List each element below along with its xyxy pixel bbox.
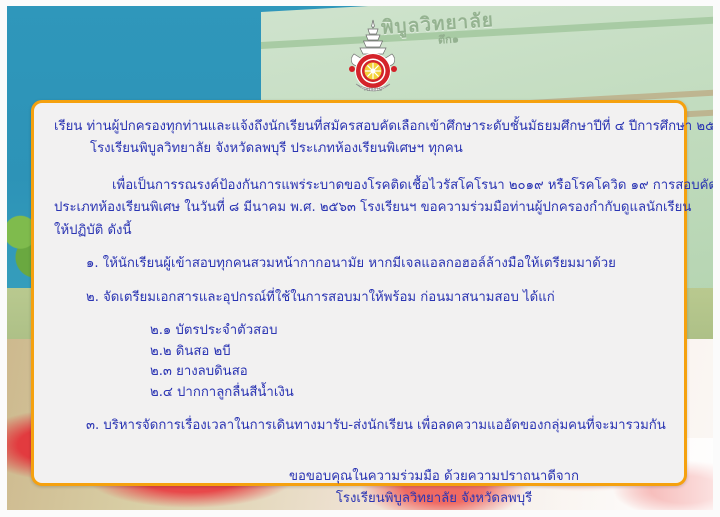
salutation-line-1: เรียน ท่านผู้ปกครองทุกท่านและแจ้งถึงนักเ… (54, 117, 664, 137)
body-line-3: ให้ปฏิบัติ ดังนี้ (54, 221, 664, 241)
body-line-1: เพื่อเป็นการรณรงค์ป้องกันการแพร่ระบาดของ… (54, 176, 664, 196)
salutation-line-2: โรงเรียนพิบูลวิทยาลัย จังหวัดลพบุรี ประเ… (54, 139, 664, 159)
closing-line-2: โรงเรียนพิบูลวิทยาลัย จังหวัดลพบุรี (204, 488, 664, 509)
notice-item-1: ๑. ให้นักเรียนผู้เข้าสอบทุกคนสวมหน้ากากอ… (54, 254, 664, 274)
svg-text:PHIBUN: PHIBUN (364, 87, 382, 93)
school-emblem-icon: PHIBUN (344, 18, 402, 102)
notice-item-3: ๓. บริหารจัดการเรื่องเวลาในการเดินทางมาร… (54, 416, 664, 436)
notice-subitem-2-2: ๒.๒ ดินสอ ๒บี (54, 342, 664, 362)
building-sign-subtext: ตึก๑ (437, 29, 459, 48)
background-photo: พิบูลวิทยาลัย ตึก๑ (7, 6, 713, 510)
notice-item-2: ๒. จัดเตรียมเอกสารและอุปกรณ์ที่ใช้ในการส… (54, 288, 664, 308)
closing-line-1: ขอขอบคุณในความร่วมมือ ด้วยความปราถนาดีจา… (204, 466, 664, 487)
notice-subitem-2-4: ๒.๔ ปากกาลูกลื่นสีน้ำเงิน (54, 383, 664, 403)
closing-block: ขอขอบคุณในความร่วมมือ ด้วยความปราถนาดีจา… (54, 466, 664, 508)
notice-subitem-2-1: ๒.๑ บัตรประจำตัวสอบ (54, 321, 664, 341)
body-line-2: ประเภทห้องเรียนพิเศษ ในวันที่ ๘ มีนาคม พ… (54, 198, 664, 218)
notice-card: เรียน ท่านผู้ปกครองทุกท่านและแจ้งถึงนักเ… (31, 100, 687, 486)
notice-poster: พิบูลวิทยาลัย ตึก๑ (0, 0, 720, 517)
notice-subitem-2-3: ๒.๓ ยางลบดินสอ (54, 362, 664, 382)
